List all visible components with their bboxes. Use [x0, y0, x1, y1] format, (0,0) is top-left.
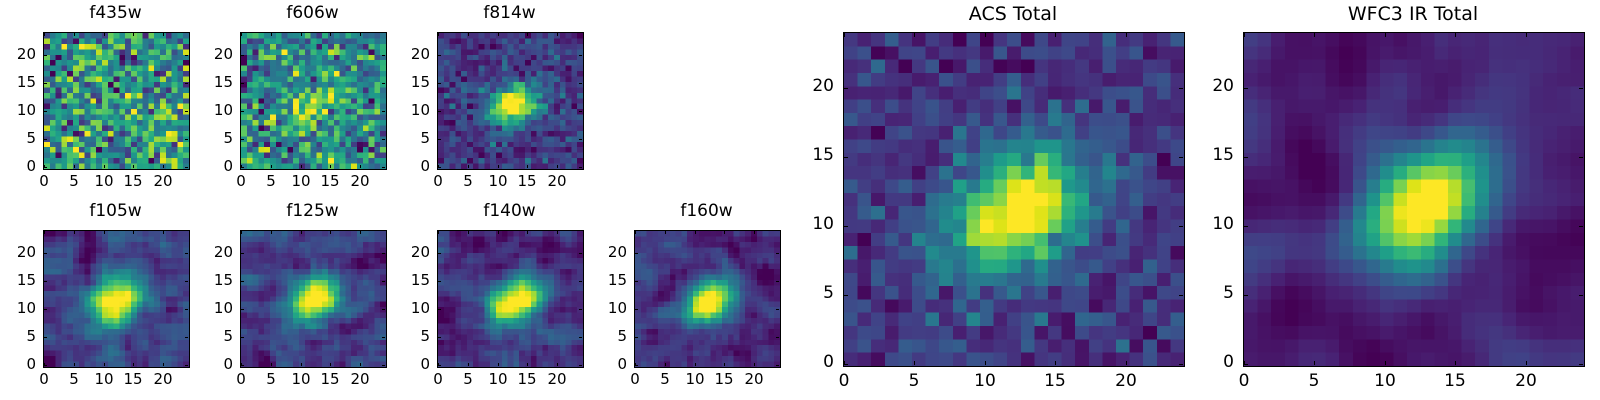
- ytick-right-f160w-1: [776, 337, 779, 338]
- figure-canvas: f435w0510152005101520f606w05101520051015…: [0, 0, 1600, 400]
- xtick-top-f435w-3: [133, 33, 134, 36]
- yticklabel-f606w-0: 0: [200, 159, 233, 174]
- xticklabel-f606w-0: 0: [211, 174, 271, 189]
- xtick-top-f814w-1: [468, 33, 469, 36]
- yticklabel-f435w-1: 5: [3, 131, 36, 146]
- xtick-f606w-4: [360, 165, 361, 168]
- xticklabel-f160w-1: 5: [635, 372, 695, 387]
- ytick-right-f435w-4: [185, 55, 188, 56]
- ytick-wfc3-ir-total-0: [1244, 364, 1248, 365]
- panel-f140w: f140w0510152005101520: [397, 0, 582, 400]
- yticklabel-f606w-3: 15: [200, 75, 233, 90]
- xtick-top-wfc3-ir-total-4: [1526, 33, 1527, 37]
- xticklabel-wfc3-ir-total-1: 5: [1284, 373, 1344, 390]
- xtick-f435w-1: [74, 165, 75, 168]
- image-axes-f435w: [43, 32, 190, 170]
- ytick-right-f140w-3: [579, 281, 582, 282]
- xtick-f125w-0: [241, 363, 242, 366]
- xtick-f125w-1: [271, 363, 272, 366]
- panel-f105w: f105w0510152005101520: [3, 0, 188, 400]
- image-data-wfc3-ir-total: [1244, 33, 1584, 366]
- image-data-f814w: [438, 33, 583, 169]
- xticklabel-wfc3-ir-total-0: 0: [1214, 373, 1274, 390]
- ytick-f125w-3: [241, 281, 244, 282]
- xticklabel-f125w-1: 5: [241, 372, 301, 387]
- image-axes-wfc3-ir-total: [1243, 32, 1585, 367]
- panel-title-f606w: f606w: [240, 5, 385, 22]
- xtick-f105w-1: [74, 363, 75, 366]
- xticklabel-f435w-2: 10: [74, 174, 134, 189]
- image-data-acs-total: [844, 33, 1184, 366]
- xtick-f160w-4: [754, 363, 755, 366]
- xtick-f435w-0: [44, 165, 45, 168]
- xtick-f160w-1: [665, 363, 666, 366]
- xticklabel-wfc3-ir-total-2: 10: [1355, 373, 1415, 390]
- xtick-acs-total-2: [985, 361, 986, 365]
- xtick-top-f160w-1: [665, 231, 666, 234]
- xticklabel-f606w-3: 15: [300, 174, 360, 189]
- ytick-right-f125w-1: [382, 337, 385, 338]
- xtick-f814w-3: [527, 165, 528, 168]
- ytick-right-f606w-3: [382, 83, 385, 84]
- yticklabel-f606w-4: 20: [200, 47, 233, 62]
- xticklabel-f125w-3: 15: [300, 372, 360, 387]
- image-data-f435w: [44, 33, 189, 169]
- panel-acs-total: ACS Total0510152005101520: [803, 0, 1183, 400]
- ytick-acs-total-2: [844, 226, 848, 227]
- yticklabel-f160w-1: 5: [594, 329, 627, 344]
- xtick-top-acs-total-0: [844, 33, 845, 37]
- ytick-f140w-4: [438, 253, 441, 254]
- ytick-right-acs-total-0: [1179, 364, 1183, 365]
- xticklabel-f105w-4: 20: [133, 372, 193, 387]
- yticklabel-f435w-4: 20: [3, 47, 36, 62]
- xticklabel-acs-total-4: 20: [1096, 373, 1156, 390]
- xtick-top-f160w-3: [724, 231, 725, 234]
- xticklabel-f606w-4: 20: [330, 174, 390, 189]
- ytick-right-wfc3-ir-total-4: [1579, 88, 1583, 89]
- xtick-top-wfc3-ir-total-2: [1385, 33, 1386, 37]
- yticklabel-f140w-2: 10: [397, 301, 430, 316]
- xticklabel-f435w-1: 5: [44, 174, 104, 189]
- xticklabel-f125w-2: 10: [271, 372, 331, 387]
- xtick-wfc3-ir-total-2: [1385, 361, 1386, 365]
- ytick-right-f435w-1: [185, 139, 188, 140]
- yticklabel-f160w-0: 0: [594, 357, 627, 372]
- yticklabel-wfc3-ir-total-3: 15: [1203, 147, 1234, 164]
- xtick-wfc3-ir-total-0: [1244, 361, 1245, 365]
- yticklabel-f160w-2: 10: [594, 301, 627, 316]
- xticklabel-f125w-0: 0: [211, 372, 271, 387]
- xtick-top-f814w-3: [527, 33, 528, 36]
- yticklabel-f140w-0: 0: [397, 357, 430, 372]
- xticklabel-f160w-0: 0: [605, 372, 665, 387]
- xtick-f140w-1: [468, 363, 469, 366]
- xticklabel-acs-total-0: 0: [814, 373, 874, 390]
- xticklabel-f105w-0: 0: [14, 372, 74, 387]
- ytick-right-f140w-0: [579, 365, 582, 366]
- ytick-right-f160w-0: [776, 365, 779, 366]
- yticklabel-acs-total-2: 10: [803, 216, 834, 233]
- panel-f125w: f125w0510152005101520: [200, 0, 385, 400]
- xticklabel-acs-total-3: 15: [1025, 373, 1085, 390]
- ytick-acs-total-3: [844, 157, 848, 158]
- xticklabel-f160w-4: 20: [724, 372, 784, 387]
- xticklabel-f814w-3: 15: [497, 174, 557, 189]
- xticklabel-f105w-3: 15: [103, 372, 163, 387]
- xtick-top-f105w-1: [74, 231, 75, 234]
- xticklabel-f606w-1: 5: [241, 174, 301, 189]
- xtick-top-f160w-0: [635, 231, 636, 234]
- ytick-f125w-1: [241, 337, 244, 338]
- xticklabel-f435w-0: 0: [14, 174, 74, 189]
- xticklabel-f814w-1: 5: [438, 174, 498, 189]
- ytick-right-f105w-0: [185, 365, 188, 366]
- xtick-top-f125w-4: [360, 231, 361, 234]
- yticklabel-f435w-0: 0: [3, 159, 36, 174]
- ytick-right-f435w-2: [185, 111, 188, 112]
- xticklabel-acs-total-1: 5: [884, 373, 944, 390]
- xticklabel-f125w-4: 20: [330, 372, 390, 387]
- ytick-right-f606w-4: [382, 55, 385, 56]
- xtick-f125w-4: [360, 363, 361, 366]
- xtick-top-acs-total-3: [1055, 33, 1056, 37]
- xtick-top-f125w-0: [241, 231, 242, 234]
- xtick-top-f140w-1: [468, 231, 469, 234]
- xtick-f105w-2: [104, 363, 105, 366]
- xtick-f160w-2: [695, 363, 696, 366]
- xticklabel-f140w-4: 20: [527, 372, 587, 387]
- xtick-f814w-4: [557, 165, 558, 168]
- ytick-f160w-3: [635, 281, 638, 282]
- xtick-top-wfc3-ir-total-1: [1314, 33, 1315, 37]
- image-axes-f606w: [240, 32, 387, 170]
- panel-title-f140w: f140w: [437, 203, 582, 220]
- xtick-f606w-3: [330, 165, 331, 168]
- xticklabel-f140w-2: 10: [468, 372, 528, 387]
- ytick-f140w-2: [438, 309, 441, 310]
- xtick-top-f125w-1: [271, 231, 272, 234]
- panel-title-f814w: f814w: [437, 5, 582, 22]
- xtick-top-f140w-4: [557, 231, 558, 234]
- xtick-acs-total-1: [914, 361, 915, 365]
- xticklabel-wfc3-ir-total-3: 15: [1425, 373, 1485, 390]
- xtick-top-f606w-3: [330, 33, 331, 36]
- yticklabel-wfc3-ir-total-2: 10: [1203, 216, 1234, 233]
- panel-title-f435w: f435w: [43, 5, 188, 22]
- ytick-f125w-4: [241, 253, 244, 254]
- ytick-f105w-4: [44, 253, 47, 254]
- xtick-f435w-4: [163, 165, 164, 168]
- ytick-right-wfc3-ir-total-2: [1579, 226, 1583, 227]
- yticklabel-f814w-4: 20: [397, 47, 430, 62]
- xtick-f125w-2: [301, 363, 302, 366]
- ytick-right-wfc3-ir-total-1: [1579, 295, 1583, 296]
- xtick-top-f814w-2: [498, 33, 499, 36]
- yticklabel-f125w-4: 20: [200, 245, 233, 260]
- ytick-right-f606w-0: [382, 167, 385, 168]
- ytick-right-f125w-2: [382, 309, 385, 310]
- panel-title-f105w: f105w: [43, 203, 188, 220]
- yticklabel-acs-total-0: 0: [803, 354, 834, 371]
- xtick-wfc3-ir-total-1: [1314, 361, 1315, 365]
- yticklabel-wfc3-ir-total-4: 20: [1203, 78, 1234, 95]
- ytick-right-f140w-2: [579, 309, 582, 310]
- yticklabel-f435w-2: 10: [3, 103, 36, 118]
- xtick-top-acs-total-1: [914, 33, 915, 37]
- ytick-f140w-1: [438, 337, 441, 338]
- yticklabel-f140w-1: 5: [397, 329, 430, 344]
- xtick-f606w-1: [271, 165, 272, 168]
- xtick-f606w-0: [241, 165, 242, 168]
- xtick-top-f125w-3: [330, 231, 331, 234]
- xtick-f160w-3: [724, 363, 725, 366]
- xticklabel-f140w-3: 15: [497, 372, 557, 387]
- panel-title-wfc3-ir-total: WFC3 IR Total: [1243, 5, 1583, 24]
- xtick-top-acs-total-4: [1126, 33, 1127, 37]
- xtick-top-f606w-2: [301, 33, 302, 36]
- xticklabel-f435w-4: 20: [133, 174, 193, 189]
- ytick-f435w-3: [44, 83, 47, 84]
- xtick-wfc3-ir-total-4: [1526, 361, 1527, 365]
- xtick-top-wfc3-ir-total-0: [1244, 33, 1245, 37]
- yticklabel-f105w-1: 5: [3, 329, 36, 344]
- panel-f606w: f606w0510152005101520: [200, 0, 385, 400]
- yticklabel-f814w-0: 0: [397, 159, 430, 174]
- xtick-f105w-4: [163, 363, 164, 366]
- image-axes-acs-total: [843, 32, 1185, 367]
- yticklabel-f140w-4: 20: [397, 245, 430, 260]
- xtick-top-f435w-0: [44, 33, 45, 36]
- ytick-acs-total-0: [844, 364, 848, 365]
- panel-f160w: f160w0510152005101520: [594, 0, 779, 400]
- xtick-wfc3-ir-total-3: [1455, 361, 1456, 365]
- image-axes-f814w: [437, 32, 584, 170]
- ytick-wfc3-ir-total-3: [1244, 157, 1248, 158]
- xtick-top-f606w-0: [241, 33, 242, 36]
- panel-title-f160w: f160w: [634, 203, 779, 220]
- ytick-f814w-4: [438, 55, 441, 56]
- yticklabel-f125w-0: 0: [200, 357, 233, 372]
- xtick-f814w-2: [498, 165, 499, 168]
- xtick-f160w-0: [635, 363, 636, 366]
- ytick-wfc3-ir-total-1: [1244, 295, 1248, 296]
- xticklabel-f105w-2: 10: [74, 372, 134, 387]
- ytick-acs-total-4: [844, 88, 848, 89]
- yticklabel-f606w-1: 5: [200, 131, 233, 146]
- xtick-top-f140w-3: [527, 231, 528, 234]
- ytick-f435w-2: [44, 111, 47, 112]
- xtick-f105w-3: [133, 363, 134, 366]
- ytick-wfc3-ir-total-4: [1244, 88, 1248, 89]
- yticklabel-f140w-3: 15: [397, 273, 430, 288]
- panel-f814w: f814w0510152005101520: [397, 0, 582, 400]
- yticklabel-wfc3-ir-total-1: 5: [1203, 285, 1234, 302]
- ytick-f606w-4: [241, 55, 244, 56]
- xtick-top-f814w-4: [557, 33, 558, 36]
- xtick-f140w-2: [498, 363, 499, 366]
- xtick-acs-total-3: [1055, 361, 1056, 365]
- xtick-f435w-3: [133, 165, 134, 168]
- ytick-right-f435w-0: [185, 167, 188, 168]
- ytick-right-wfc3-ir-total-0: [1579, 364, 1583, 365]
- ytick-f125w-0: [241, 365, 244, 366]
- yticklabel-f814w-3: 15: [397, 75, 430, 90]
- image-axes-f125w: [240, 230, 387, 368]
- yticklabel-f435w-3: 15: [3, 75, 36, 90]
- ytick-right-f814w-4: [579, 55, 582, 56]
- ytick-f160w-4: [635, 253, 638, 254]
- ytick-f606w-1: [241, 139, 244, 140]
- xticklabel-f160w-2: 10: [665, 372, 725, 387]
- ytick-right-f606w-1: [382, 139, 385, 140]
- xticklabel-f160w-3: 15: [694, 372, 754, 387]
- xtick-f814w-1: [468, 165, 469, 168]
- ytick-f814w-0: [438, 167, 441, 168]
- xticklabel-f814w-4: 20: [527, 174, 587, 189]
- ytick-right-f814w-0: [579, 167, 582, 168]
- image-axes-f140w: [437, 230, 584, 368]
- yticklabel-f125w-2: 10: [200, 301, 233, 316]
- xtick-acs-total-0: [844, 361, 845, 365]
- xtick-top-f606w-1: [271, 33, 272, 36]
- ytick-f140w-0: [438, 365, 441, 366]
- xtick-top-f814w-0: [438, 33, 439, 36]
- ytick-right-f160w-3: [776, 281, 779, 282]
- xtick-f140w-4: [557, 363, 558, 366]
- ytick-f435w-0: [44, 167, 47, 168]
- ytick-wfc3-ir-total-2: [1244, 226, 1248, 227]
- ytick-right-f435w-3: [185, 83, 188, 84]
- yticklabel-f105w-3: 15: [3, 273, 36, 288]
- image-data-f125w: [241, 231, 386, 367]
- ytick-f160w-2: [635, 309, 638, 310]
- xtick-f105w-0: [44, 363, 45, 366]
- xtick-top-f105w-3: [133, 231, 134, 234]
- ytick-right-f125w-4: [382, 253, 385, 254]
- ytick-right-f160w-4: [776, 253, 779, 254]
- yticklabel-f125w-1: 5: [200, 329, 233, 344]
- ytick-acs-total-1: [844, 295, 848, 296]
- yticklabel-acs-total-4: 20: [803, 78, 834, 95]
- ytick-right-f814w-1: [579, 139, 582, 140]
- ytick-f105w-0: [44, 365, 47, 366]
- ytick-right-f105w-3: [185, 281, 188, 282]
- ytick-f606w-2: [241, 111, 244, 112]
- xtick-f606w-2: [301, 165, 302, 168]
- xtick-f140w-0: [438, 363, 439, 366]
- xticklabel-f606w-2: 10: [271, 174, 331, 189]
- xtick-top-f160w-4: [754, 231, 755, 234]
- image-data-f140w: [438, 231, 583, 367]
- xtick-f125w-3: [330, 363, 331, 366]
- ytick-f125w-2: [241, 309, 244, 310]
- ytick-f140w-3: [438, 281, 441, 282]
- panel-title-f125w: f125w: [240, 203, 385, 220]
- panel-title-acs-total: ACS Total: [843, 5, 1183, 24]
- xticklabel-f814w-2: 10: [468, 174, 528, 189]
- yticklabel-acs-total-3: 15: [803, 147, 834, 164]
- ytick-right-f140w-4: [579, 253, 582, 254]
- yticklabel-acs-total-1: 5: [803, 285, 834, 302]
- ytick-right-f125w-3: [382, 281, 385, 282]
- yticklabel-f105w-4: 20: [3, 245, 36, 260]
- yticklabel-f160w-3: 15: [594, 273, 627, 288]
- yticklabel-f606w-2: 10: [200, 103, 233, 118]
- xtick-top-f105w-0: [44, 231, 45, 234]
- ytick-right-f105w-1: [185, 337, 188, 338]
- yticklabel-f105w-0: 0: [3, 357, 36, 372]
- ytick-f606w-3: [241, 83, 244, 84]
- xticklabel-wfc3-ir-total-4: 20: [1496, 373, 1556, 390]
- panel-wfc3-ir-total: WFC3 IR Total0510152005101520: [1203, 0, 1583, 400]
- xtick-acs-total-4: [1126, 361, 1127, 365]
- image-data-f606w: [241, 33, 386, 169]
- xticklabel-f105w-1: 5: [44, 372, 104, 387]
- ytick-f105w-3: [44, 281, 47, 282]
- xticklabel-f814w-0: 0: [408, 174, 468, 189]
- ytick-f105w-2: [44, 309, 47, 310]
- ytick-right-f105w-2: [185, 309, 188, 310]
- ytick-right-f105w-4: [185, 253, 188, 254]
- xtick-top-wfc3-ir-total-3: [1455, 33, 1456, 37]
- ytick-f435w-4: [44, 55, 47, 56]
- xtick-top-f105w-2: [104, 231, 105, 234]
- ytick-right-acs-total-1: [1179, 295, 1183, 296]
- yticklabel-f814w-1: 5: [397, 131, 430, 146]
- ytick-right-f160w-2: [776, 309, 779, 310]
- xtick-f814w-0: [438, 165, 439, 168]
- ytick-f160w-0: [635, 365, 638, 366]
- ytick-right-f606w-2: [382, 111, 385, 112]
- ytick-right-f140w-1: [579, 337, 582, 338]
- ytick-f105w-1: [44, 337, 47, 338]
- ytick-right-acs-total-2: [1179, 226, 1183, 227]
- xtick-top-f160w-2: [695, 231, 696, 234]
- yticklabel-f105w-2: 10: [3, 301, 36, 316]
- ytick-right-acs-total-3: [1179, 157, 1183, 158]
- xticklabel-f140w-0: 0: [408, 372, 468, 387]
- ytick-right-f814w-3: [579, 83, 582, 84]
- xticklabel-f140w-1: 5: [438, 372, 498, 387]
- xtick-top-f140w-2: [498, 231, 499, 234]
- yticklabel-f125w-3: 15: [200, 273, 233, 288]
- ytick-f814w-3: [438, 83, 441, 84]
- xtick-top-f435w-1: [74, 33, 75, 36]
- image-data-f105w: [44, 231, 189, 367]
- ytick-right-acs-total-4: [1179, 88, 1183, 89]
- ytick-right-f814w-2: [579, 111, 582, 112]
- yticklabel-f160w-4: 20: [594, 245, 627, 260]
- xtick-f435w-2: [104, 165, 105, 168]
- ytick-f160w-1: [635, 337, 638, 338]
- ytick-right-f125w-0: [382, 365, 385, 366]
- ytick-f606w-0: [241, 167, 244, 168]
- ytick-f814w-2: [438, 111, 441, 112]
- image-axes-f105w: [43, 230, 190, 368]
- xtick-top-acs-total-2: [985, 33, 986, 37]
- xtick-top-f606w-4: [360, 33, 361, 36]
- xtick-top-f140w-0: [438, 231, 439, 234]
- ytick-f435w-1: [44, 139, 47, 140]
- xtick-top-f435w-4: [163, 33, 164, 36]
- image-data-f160w: [635, 231, 780, 367]
- ytick-f814w-1: [438, 139, 441, 140]
- yticklabel-wfc3-ir-total-0: 0: [1203, 354, 1234, 371]
- xtick-top-f105w-4: [163, 231, 164, 234]
- xticklabel-f435w-3: 15: [103, 174, 163, 189]
- xtick-f140w-3: [527, 363, 528, 366]
